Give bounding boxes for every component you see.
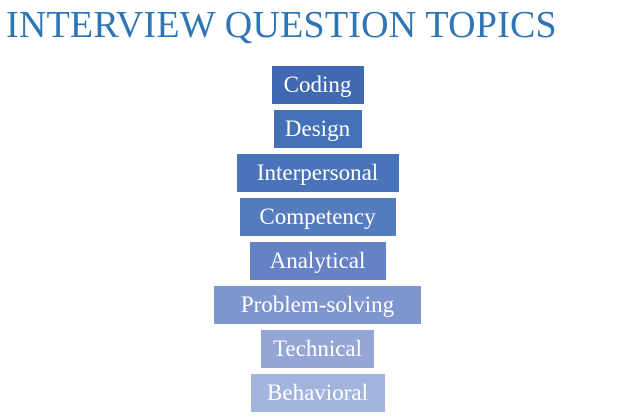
page-title: INTERVIEW QUESTION TOPICS [6, 2, 629, 48]
funnel-bar-label: Design [279, 116, 356, 142]
funnel-row: Technical [0, 330, 635, 374]
funnel-row: Problem-solving [0, 286, 635, 330]
funnel-bar-coding[interactable]: Coding [272, 66, 364, 104]
funnel-bar-label: Interpersonal [251, 160, 384, 186]
funnel-bar-label: Problem-solving [235, 292, 400, 318]
funnel-row: Competency [0, 198, 635, 242]
funnel-row: Interpersonal [0, 154, 635, 198]
chart-canvas: INTERVIEW QUESTION TOPICS Coding Design … [0, 0, 635, 419]
funnel-bar-label: Technical [267, 336, 368, 362]
funnel-row: Design [0, 110, 635, 154]
funnel-row: Behavioral [0, 374, 635, 418]
funnel-bar-label: Competency [253, 204, 381, 230]
funnel-bar-label: Behavioral [261, 380, 374, 406]
funnel-bar-technical[interactable]: Technical [261, 330, 374, 368]
funnel-bar-design[interactable]: Design [274, 110, 362, 148]
funnel-bar-behavioral[interactable]: Behavioral [251, 374, 385, 412]
funnel-bar-interpersonal[interactable]: Interpersonal [237, 154, 399, 192]
funnel-bar-analytical[interactable]: Analytical [250, 242, 386, 280]
funnel-bar-label: Analytical [264, 248, 372, 274]
funnel-chart: Coding Design Interpersonal Competency A… [0, 66, 635, 416]
funnel-bar-competency[interactable]: Competency [240, 198, 396, 236]
funnel-row: Analytical [0, 242, 635, 286]
funnel-bar-label: Coding [278, 72, 358, 98]
funnel-row: Coding [0, 66, 635, 110]
funnel-bar-problem-solving[interactable]: Problem-solving [214, 286, 421, 324]
